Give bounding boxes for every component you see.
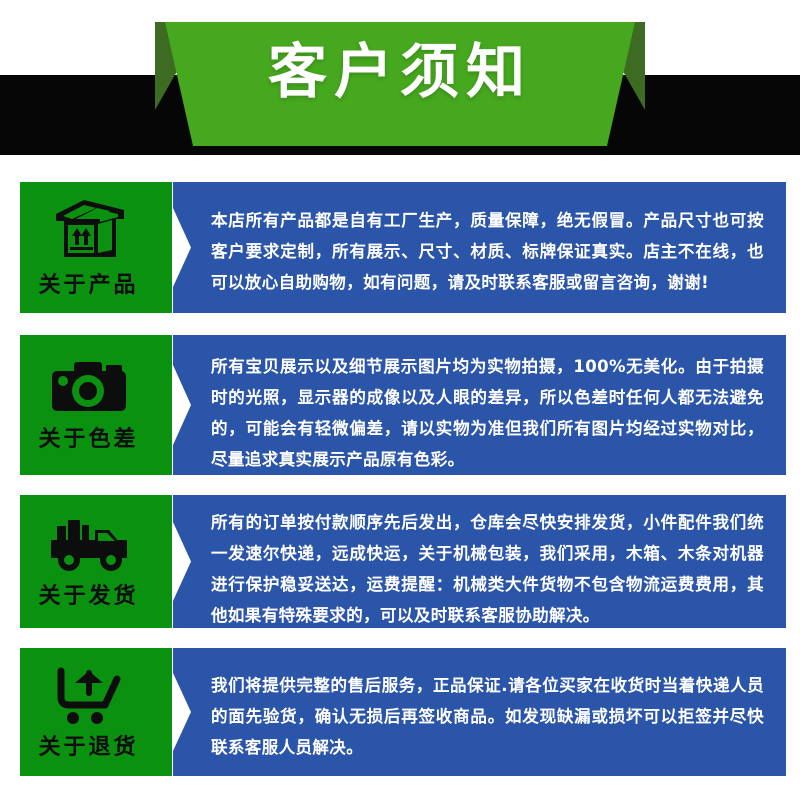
section-row: 关于退货 我们将提供完整的售后服务，正品保证.请各位买家在收货时当着快递人员的面… bbox=[0, 648, 800, 776]
text-panel-color: 所有宝贝展示以及细节展示图片均为实物拍摄，100%无美化。由于拍摄时的光照，显示… bbox=[173, 335, 786, 475]
section-text: 本店所有产品都是自有工厂生产，质量保障，绝无假冒。产品尺寸也可按客户要求定制，所… bbox=[211, 205, 764, 298]
header-banner: 客户须知 bbox=[0, 0, 800, 170]
section-text: 所有的订单按付款顺序先后发出，仓库会尽快安排发货，小件配件我们统一发速尔快递，远… bbox=[211, 507, 764, 628]
section-row: 关于色差 所有宝贝展示以及细节展示图片均为实物拍摄，100%无美化。由于拍摄时的… bbox=[0, 335, 800, 475]
camera-icon bbox=[48, 357, 130, 417]
page-title: 客户须知 bbox=[0, 36, 800, 108]
package-box-icon bbox=[50, 197, 128, 263]
text-panel-product: 本店所有产品都是自有工厂生产，质量保障，绝无假冒。产品尺寸也可按客户要求定制，所… bbox=[173, 182, 786, 313]
return-cart-icon bbox=[49, 663, 129, 725]
section-text: 我们将提供完整的售后服务，正品保证.请各位买家在收货时当着快递人员的面先验货，确… bbox=[211, 670, 764, 763]
icon-card-label: 关于产品 bbox=[38, 267, 138, 299]
icon-card-shipping[interactable]: 关于发货 bbox=[20, 495, 172, 628]
icon-card-color[interactable]: 关于色差 bbox=[20, 335, 172, 475]
icon-card-label: 关于色差 bbox=[38, 421, 138, 453]
icon-card-return[interactable]: 关于退货 bbox=[20, 648, 172, 776]
section-row: 关于发货 所有的订单按付款顺序先后发出，仓库会尽快安排发货，小件配件我们统一发速… bbox=[0, 495, 800, 628]
icon-card-product[interactable]: 关于产品 bbox=[20, 182, 172, 313]
text-panel-shipping: 所有的订单按付款顺序先后发出，仓库会尽快安排发货，小件配件我们统一发速尔快递，远… bbox=[173, 495, 786, 628]
delivery-truck-icon bbox=[45, 514, 133, 574]
icon-card-label: 关于发货 bbox=[38, 578, 138, 610]
section-row: 关于产品 本店所有产品都是自有工厂生产，质量保障，绝无假冒。产品尺寸也可按客户要… bbox=[0, 182, 800, 313]
icon-card-label: 关于退货 bbox=[38, 729, 138, 761]
text-panel-return: 我们将提供完整的售后服务，正品保证.请各位买家在收货时当着快递人员的面先验货，确… bbox=[173, 648, 786, 776]
section-text: 所有宝贝展示以及细节展示图片均为实物拍摄，100%无美化。由于拍摄时的光照，显示… bbox=[211, 351, 764, 475]
